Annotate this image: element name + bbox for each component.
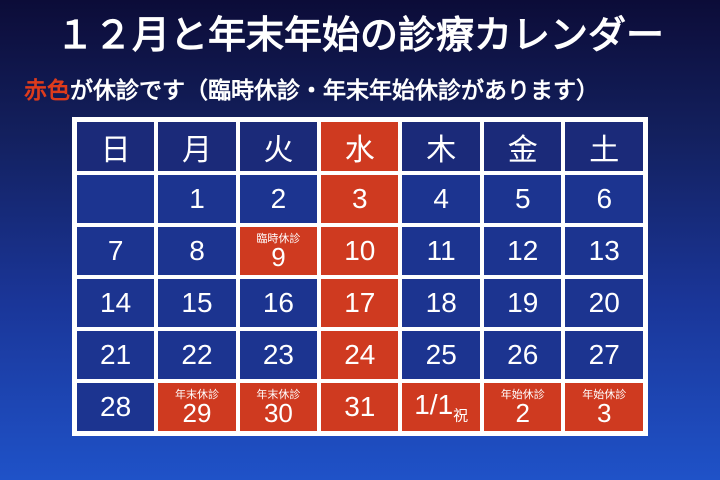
day-cell-content: 16 (240, 279, 317, 327)
calendar-day-cell[interactable]: 31 (319, 381, 400, 433)
day-cell-content: 8 (158, 227, 235, 275)
calendar-day-cell[interactable]: 21 (75, 329, 156, 381)
calendar-day-cell[interactable]: 20 (563, 277, 645, 329)
day-cell-content: 6 (565, 175, 643, 223)
calendar-week-row: 28年末休診29年末休診30311/1祝年始休診2年始休診3 (75, 381, 645, 433)
day-number: 23 (263, 340, 294, 370)
calendar-day-cell[interactable]: 臨時休診9 (238, 225, 319, 277)
day-number: 26 (507, 340, 538, 370)
day-number: 28 (100, 392, 131, 422)
day-number: 10 (344, 236, 375, 266)
weekday-header-1: 月 (156, 120, 237, 173)
day-cell-content: 4 (402, 175, 480, 223)
day-number: 22 (181, 340, 212, 370)
subtitle-rest-text: が休診です（臨時休診・年末年始休診があります） (70, 77, 599, 103)
day-cell-content: 31 (321, 383, 398, 431)
day-cell-content: 19 (484, 279, 561, 327)
day-cell-content: 26 (484, 331, 561, 379)
calendar-day-cell[interactable]: 年末休診29 (156, 381, 237, 433)
calendar-week-row: 123456 (75, 173, 645, 225)
day-cell-content: 3 (321, 175, 398, 223)
day-number: 30 (264, 400, 293, 427)
day-number: 13 (589, 236, 620, 266)
calendar-day-cell[interactable]: 年始休診3 (563, 381, 645, 433)
day-number: 21 (100, 340, 131, 370)
day-number: 29 (183, 400, 212, 427)
day-cell-content: 年始休診2 (484, 383, 561, 431)
day-number: 4 (433, 184, 449, 214)
day-cell-content: 24 (321, 331, 398, 379)
calendar-week-row: 78臨時休診910111213 (75, 225, 645, 277)
day-number: 2 (271, 184, 287, 214)
day-number: 12 (507, 236, 538, 266)
day-number: 3 (597, 400, 611, 427)
weekday-header-6: 土 (563, 120, 645, 173)
weekday-header-4: 木 (400, 120, 482, 173)
weekday-header-2: 火 (238, 120, 319, 173)
calendar-day-cell[interactable]: 2 (238, 173, 319, 225)
calendar-body: 12345678臨時休診9101112131415161718192021222… (75, 173, 645, 433)
day-cell-content: 11 (402, 227, 480, 275)
calendar-day-cell[interactable]: 12 (482, 225, 563, 277)
day-cell-content: 年末休診30 (240, 383, 317, 431)
day-cell-content: 14 (77, 279, 154, 327)
calendar-day-cell[interactable]: 13 (563, 225, 645, 277)
calendar-day-cell[interactable]: 27 (563, 329, 645, 381)
calendar-day-cell[interactable]: 8 (156, 225, 237, 277)
calendar-day-cell[interactable]: 5 (482, 173, 563, 225)
calendar-week-row: 21222324252627 (75, 329, 645, 381)
day-number: 27 (589, 340, 620, 370)
calendar-day-cell[interactable]: 22 (156, 329, 237, 381)
day-cell-content: 臨時休診9 (240, 227, 317, 275)
day-cell-content: 1/1祝 (402, 383, 480, 431)
calendar-day-cell[interactable]: 4 (400, 173, 482, 225)
day-cell-content: 12 (484, 227, 561, 275)
day-cell-content: 13 (565, 227, 643, 275)
day-cell-content: 28 (77, 383, 154, 431)
calendar-day-cell[interactable]: 10 (319, 225, 400, 277)
day-number: 1/1祝 (414, 390, 468, 424)
calendar-day-cell[interactable]: 年始休診2 (482, 381, 563, 433)
day-number: 19 (507, 288, 538, 318)
calendar-day-cell[interactable]: 23 (238, 329, 319, 381)
weekday-header-5: 金 (482, 120, 563, 173)
calendar-day-cell[interactable]: 24 (319, 329, 400, 381)
day-number: 7 (108, 236, 124, 266)
calendar-day-cell[interactable]: 11 (400, 225, 482, 277)
day-number: 25 (426, 340, 457, 370)
day-number: 20 (589, 288, 620, 318)
day-cell-content: 年始休診3 (565, 383, 643, 431)
subtitle-accent-text: 赤色 (24, 77, 70, 103)
calendar-day-cell[interactable]: 28 (75, 381, 156, 433)
day-cell-content: 23 (240, 331, 317, 379)
page-title: １２月と年末年始の診療カレンダー (0, 13, 720, 59)
calendar-day-cell[interactable]: 26 (482, 329, 563, 381)
calendar-day-cell[interactable]: 1 (156, 173, 237, 225)
day-number: 31 (344, 392, 375, 422)
day-cell-content: 年末休診29 (158, 383, 235, 431)
calendar-day-cell[interactable]: 6 (563, 173, 645, 225)
day-number: 11 (427, 236, 456, 266)
calendar-day-cell[interactable]: 17 (319, 277, 400, 329)
day-number: 5 (515, 184, 531, 214)
day-cell-content: 2 (240, 175, 317, 223)
calendar-day-cell[interactable]: 14 (75, 277, 156, 329)
calendar-day-cell[interactable]: 1/1祝 (400, 381, 482, 433)
calendar-day-cell[interactable]: 7 (75, 225, 156, 277)
calendar-header: 日月火水木金土 (75, 120, 645, 173)
calendar-day-cell[interactable]: 3 (319, 173, 400, 225)
day-number: 16 (263, 288, 294, 318)
calendar-table: 日月火水木金土 12345678臨時休診91011121314151617181… (72, 117, 648, 436)
day-cell-content: 22 (158, 331, 235, 379)
day-cell-content: 25 (402, 331, 480, 379)
page-subtitle: 赤色が休診です（臨時休診・年末年始休診があります） (24, 76, 714, 104)
day-number: 1 (189, 184, 205, 214)
day-number: 3 (352, 184, 368, 214)
day-number: 9 (271, 244, 285, 271)
calendar-day-cell[interactable]: 16 (238, 277, 319, 329)
day-number: 14 (100, 288, 131, 318)
day-number: 6 (596, 184, 612, 214)
day-number: 15 (181, 288, 212, 318)
calendar-day-cell[interactable]: 15 (156, 277, 237, 329)
calendar-day-cell[interactable]: 年末休診30 (238, 381, 319, 433)
day-number: 18 (426, 288, 457, 318)
calendar-day-cell[interactable]: 18 (400, 277, 482, 329)
calendar-day-cell[interactable]: 19 (482, 277, 563, 329)
day-cell-content: 1 (158, 175, 235, 223)
day-number: 17 (344, 288, 375, 318)
calendar-day-cell[interactable]: 25 (400, 329, 482, 381)
day-number: 24 (344, 340, 375, 370)
day-cell-content: 7 (77, 227, 154, 275)
day-cell-content: 20 (565, 279, 643, 327)
day-cell-content: 17 (321, 279, 398, 327)
day-cell-content: 21 (77, 331, 154, 379)
calendar-week-row: 14151617181920 (75, 277, 645, 329)
day-cell-content: 10 (321, 227, 398, 275)
weekday-header-3: 水 (319, 120, 400, 173)
day-number: 8 (189, 236, 205, 266)
day-cell-content: 27 (565, 331, 643, 379)
day-cell-content: 18 (402, 279, 480, 327)
weekday-header-row: 日月火水木金土 (75, 120, 645, 173)
day-cell-content: 15 (158, 279, 235, 327)
day-cell-content: 5 (484, 175, 561, 223)
calendar-cell-empty (75, 173, 156, 225)
weekday-header-0: 日 (75, 120, 156, 173)
day-number: 2 (516, 400, 530, 427)
holiday-marker: 祝 (453, 408, 468, 425)
